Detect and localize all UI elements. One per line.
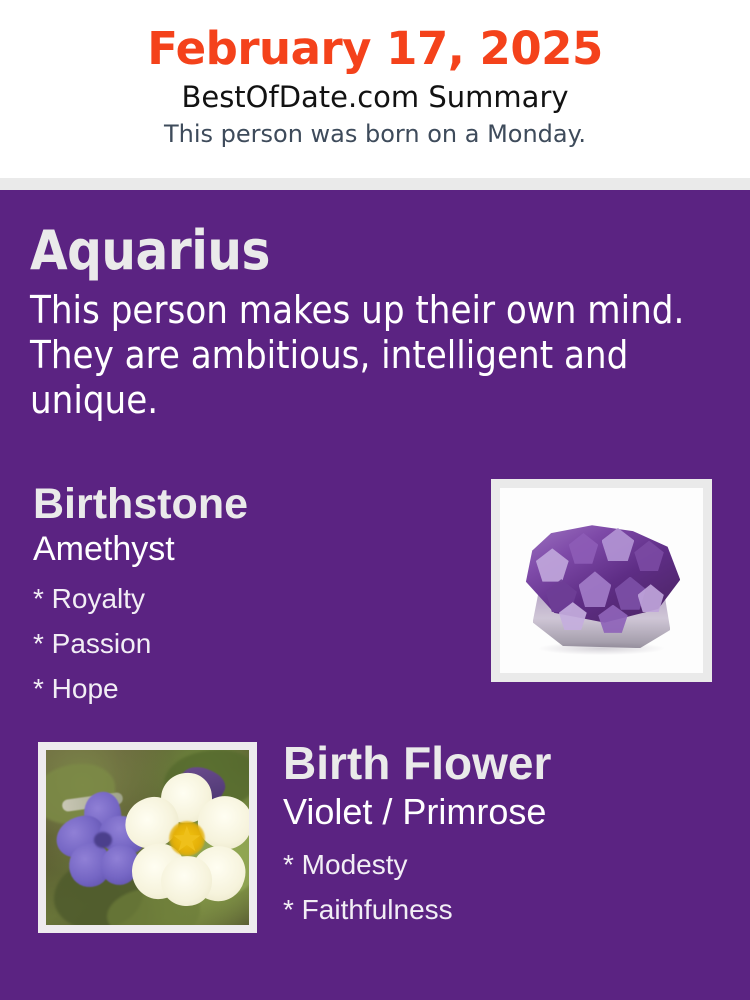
zodiac-section: Aquarius This person makes up their own …	[30, 220, 710, 423]
birthstone-heading: Birthstone	[33, 478, 463, 530]
violet-primrose-image	[46, 750, 249, 925]
site-summary-label: BestOfDate.com Summary	[0, 78, 750, 116]
birthstone-section: Birthstone Amethyst * Royalty * Passion …	[33, 478, 463, 711]
birth-flower-image-frame	[38, 742, 257, 933]
list-item: * Modesty	[283, 842, 733, 887]
details-panel: Aquarius This person makes up their own …	[0, 190, 750, 1000]
birth-flower-heading: Birth Flower	[283, 735, 733, 791]
birth-flower-name: Violet / Primrose	[283, 790, 733, 834]
primrose-petal	[160, 855, 213, 907]
header-divider	[0, 178, 750, 190]
born-day-text: This person was born on a Monday.	[0, 117, 750, 151]
list-item: * Royalty	[33, 576, 463, 621]
birth-flower-section: Birth Flower Violet / Primrose * Modesty…	[283, 735, 733, 932]
birth-flower-traits: * Modesty * Faithfulness	[283, 842, 733, 932]
birthstone-name: Amethyst	[33, 528, 463, 570]
amethyst-image	[500, 488, 703, 673]
crystal-shadow	[539, 642, 664, 655]
amethyst-crystal-graphic	[520, 520, 684, 648]
birthstone-image-frame	[491, 479, 712, 682]
summary-card: February 17, 2025 BestOfDate.com Summary…	[0, 0, 750, 1000]
birthstone-traits: * Royalty * Passion * Hope	[33, 576, 463, 711]
page-title: February 17, 2025	[0, 22, 750, 76]
zodiac-sign-name: Aquarius	[30, 220, 710, 282]
list-item: * Faithfulness	[283, 887, 733, 932]
zodiac-description: This person makes up their own mind. The…	[30, 288, 690, 423]
header: February 17, 2025 BestOfDate.com Summary…	[0, 0, 750, 178]
list-item: * Hope	[33, 666, 463, 711]
list-item: * Passion	[33, 621, 463, 666]
primrose-flower-graphic	[127, 778, 249, 904]
